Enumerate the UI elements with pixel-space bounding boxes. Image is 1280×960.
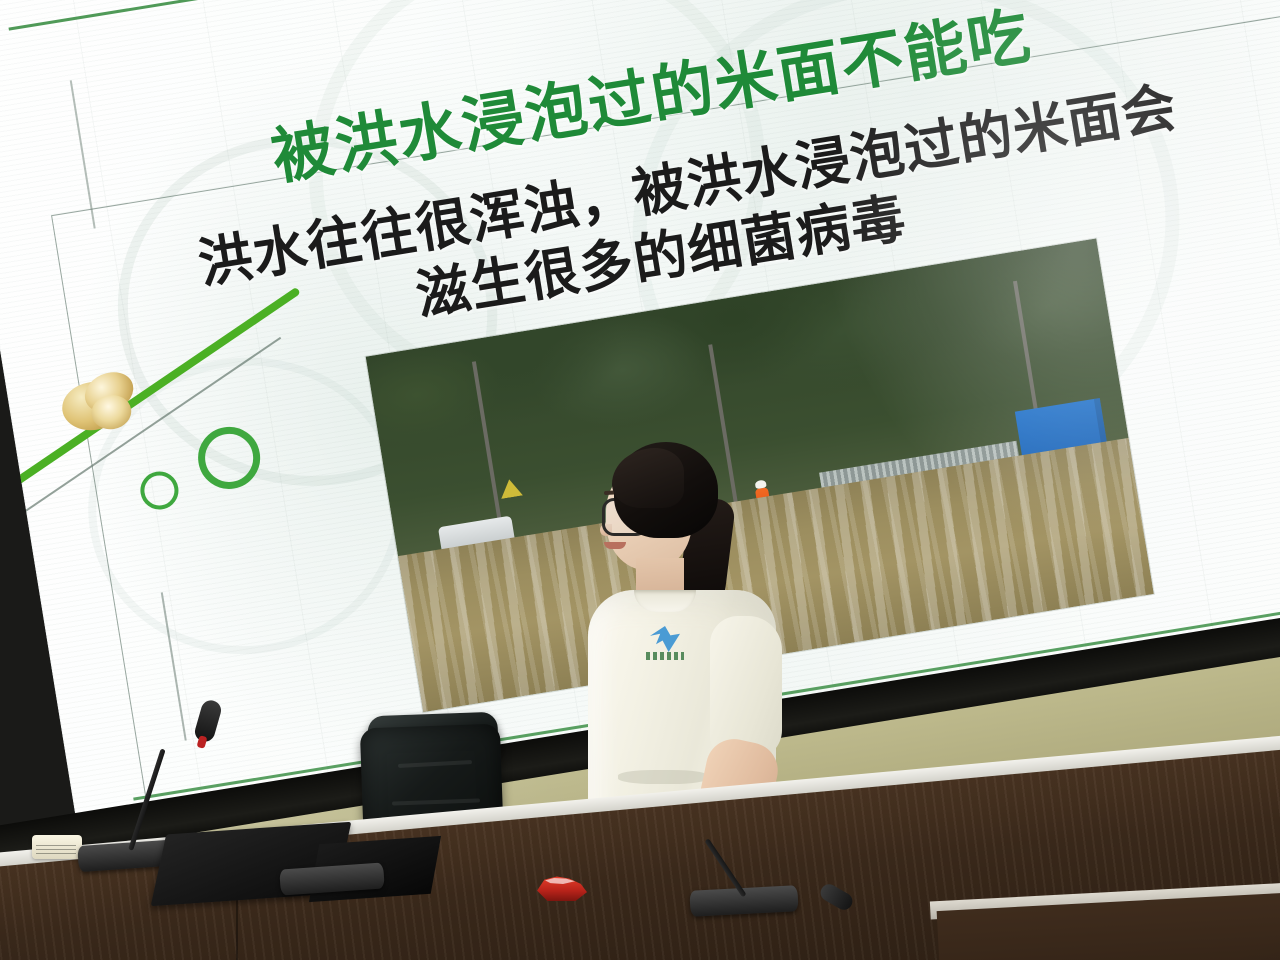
shirt-fold xyxy=(618,770,708,784)
presenter-hair-front xyxy=(612,448,684,508)
presentation-scene: 被洪水浸泡过的米面不能吃 洪水往往很浑浊，被洪水浸泡过的米面会 滋生很多的细菌病… xyxy=(0,0,1280,960)
presenter-sleeve xyxy=(710,616,782,760)
desk-panel-seam xyxy=(236,890,238,960)
shirt-logo-text xyxy=(646,652,684,660)
presenter-mouth xyxy=(604,542,626,549)
desk-name-card-text xyxy=(36,842,76,854)
gold-ornament-icon xyxy=(58,368,151,443)
